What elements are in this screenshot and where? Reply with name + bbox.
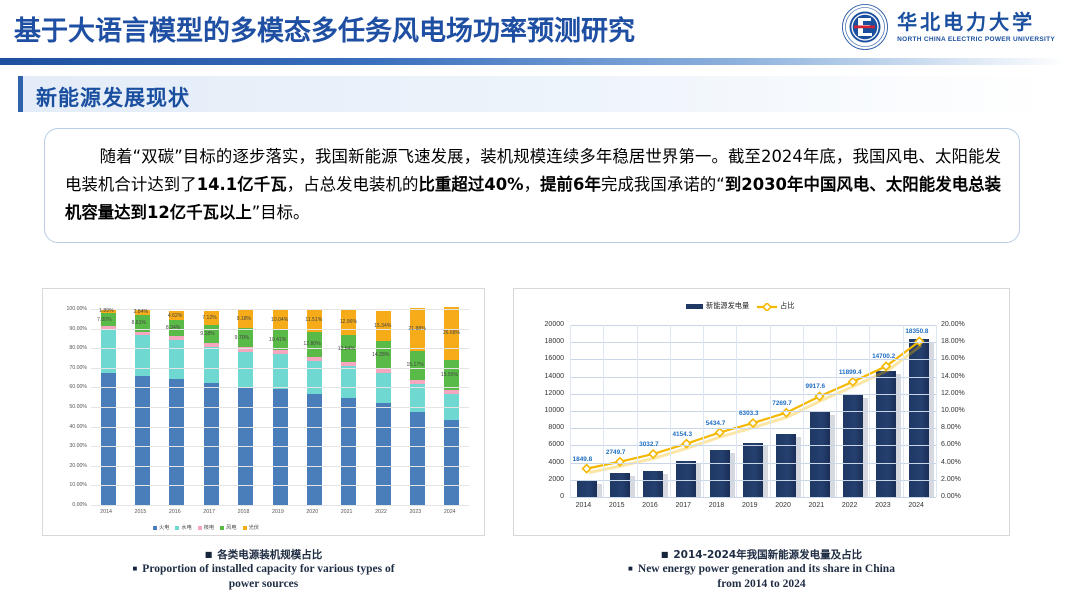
body-textbox: 随着“双碳”目标的逐步落实，我国新能源飞速发展，装机规模连续多年稳居世界第一。截… bbox=[44, 128, 1020, 243]
legend-bar-swatch-icon bbox=[686, 304, 703, 309]
right-chart-data-label: 6303.3 bbox=[739, 410, 759, 417]
right-chart-y-tick-label: 18000 bbox=[516, 338, 564, 345]
right-chart-y2-tick-label: 4.00% bbox=[941, 459, 961, 466]
left-chart-segment-火电 bbox=[307, 394, 322, 505]
right-chart-legend: 新能源发电量占比 bbox=[686, 301, 795, 311]
legend-label: 占比 bbox=[780, 301, 794, 311]
right-chart-data-label: 5434.7 bbox=[706, 420, 726, 427]
para-part-3: ， bbox=[524, 175, 541, 194]
left-chart-segment-水电 bbox=[307, 361, 322, 394]
left-chart-segment-火电 bbox=[444, 420, 459, 505]
left-chart-data-label: 13.84% bbox=[338, 346, 355, 352]
right-chart-y2-tick-label: 18.00% bbox=[941, 338, 965, 345]
left-chart-x-tick-label: 2017 bbox=[203, 509, 215, 515]
right-chart-vgridline bbox=[637, 325, 638, 497]
right-chart-data-label: 3032.7 bbox=[639, 441, 659, 448]
left-chart-data-label: 21.88% bbox=[408, 326, 425, 332]
left-chart-x-tick-label: 2020 bbox=[306, 509, 318, 515]
slide: 基于大语言模型的多模态多任务风电场功率预测研究 华北电力大学 NORTH CHI… bbox=[0, 0, 1067, 600]
right-chart-vgridline bbox=[903, 325, 904, 497]
caption-left-en-2: power sources bbox=[42, 577, 485, 592]
legend-label: 新能源发电量 bbox=[706, 301, 749, 311]
page-title: 基于大语言模型的多模态多任务风电场功率预测研究 bbox=[14, 9, 635, 48]
left-chart-gridline bbox=[91, 505, 469, 506]
left-chart-y-tick-label: 90.00% bbox=[49, 326, 87, 332]
caption-right-cn: 2014-2024年我国新能源发电量及占比 bbox=[673, 549, 862, 561]
right-chart-y2-tick-label: 14.00% bbox=[941, 373, 965, 380]
right-chart-y2-tick-label: 2.00% bbox=[941, 476, 961, 483]
left-chart-segment-水电 bbox=[135, 335, 150, 376]
right-chart-data-label: 9917.6 bbox=[806, 383, 826, 390]
right-chart-y-tick-label: 10000 bbox=[516, 407, 564, 414]
left-chart-gridline bbox=[91, 348, 469, 349]
left-chart-data-label: 15.17% bbox=[406, 362, 423, 368]
right-chart-y-tick-label: 8000 bbox=[516, 424, 564, 431]
left-chart-data-label: 8.34% bbox=[166, 325, 180, 331]
legend-label: 水电 bbox=[181, 524, 191, 531]
left-chart-data-label: 1.89% bbox=[99, 308, 113, 314]
header-divider bbox=[0, 58, 1067, 65]
left-chart-data-label: 4.62% bbox=[168, 313, 182, 319]
caption-left-en-row: ■Proportion of installed capacity for va… bbox=[42, 562, 485, 577]
right-chart-vgridline bbox=[570, 325, 571, 497]
left-chart-gridline bbox=[91, 466, 469, 467]
left-chart-data-label: 12.80% bbox=[303, 341, 320, 347]
right-chart-gridline bbox=[570, 463, 936, 464]
left-chart-data-label: 7.00% bbox=[97, 317, 111, 323]
logo-name-en: NORTH CHINA ELECTRIC POWER UNIVERSITY bbox=[897, 36, 1055, 43]
left-chart-data-label: 2.84% bbox=[134, 309, 148, 315]
para-emphasis-ahead: 提前6年 bbox=[540, 175, 601, 194]
right-chart-vgridline bbox=[803, 325, 804, 497]
right-chart-gridline bbox=[570, 428, 936, 429]
left-chart-segment-火电 bbox=[204, 383, 219, 505]
para-emphasis-share: 比重超过40% bbox=[418, 175, 523, 194]
chart-installed-capacity-share: 火电水电核电风电光伏 0.00%10.00%20.00%30.00%40.00%… bbox=[42, 288, 485, 536]
left-chart-segment-水电 bbox=[273, 354, 288, 389]
right-chart-gridline bbox=[570, 394, 936, 395]
right-chart-y-tick-label: 4000 bbox=[516, 459, 564, 466]
caption-left-cn-row: ■各类电源装机规模占比 bbox=[42, 548, 485, 562]
right-chart-data-label: 1849.8 bbox=[573, 456, 593, 463]
left-chart-x-tick-label: 2018 bbox=[238, 509, 250, 515]
left-chart-data-label: 7.12% bbox=[202, 315, 216, 321]
right-chart-data-label: 4154.3 bbox=[672, 431, 692, 438]
caption-right-chart: ■2014-2024年我国新能源发电量及占比 ■New energy power… bbox=[513, 548, 1010, 593]
left-chart-x-tick-label: 2024 bbox=[444, 509, 456, 515]
left-chart-data-label: 12.96% bbox=[340, 319, 357, 325]
right-chart-y2-tick-label: 20.00% bbox=[941, 321, 965, 328]
para-part-5: ”目标。 bbox=[252, 203, 310, 222]
right-chart-y2-tick-label: 10.00% bbox=[941, 407, 965, 414]
left-chart-segment-水电 bbox=[169, 340, 184, 379]
right-chart-y-tick-label: 2000 bbox=[516, 476, 564, 483]
right-chart-vgridline bbox=[770, 325, 771, 497]
right-chart-vgridline bbox=[736, 325, 737, 497]
left-chart-data-label: 10.41% bbox=[269, 337, 286, 343]
right-chart-y-tick-label: 0 bbox=[516, 493, 564, 500]
right-chart-vgridline bbox=[936, 325, 937, 497]
left-chart-legend-item[interactable]: 风电 bbox=[220, 524, 236, 531]
right-chart-y-tick-label: 20000 bbox=[516, 321, 564, 328]
left-chart-gridline bbox=[91, 427, 469, 428]
right-chart-x-tick-label: 2015 bbox=[609, 502, 625, 509]
left-chart-segment-水电 bbox=[204, 347, 219, 383]
right-chart-legend-item-bars[interactable]: 新能源发电量 bbox=[686, 301, 749, 311]
left-chart-gridline bbox=[91, 485, 469, 486]
right-chart-vgridline bbox=[869, 325, 870, 497]
right-chart-gridline bbox=[570, 342, 936, 343]
left-chart-x-tick-label: 2016 bbox=[169, 509, 181, 515]
bullet-square-icon: ■ bbox=[132, 564, 137, 573]
caption-right-cn-row: ■2014-2024年我国新能源发电量及占比 bbox=[513, 548, 1010, 562]
left-chart-legend-item[interactable]: 光伏 bbox=[243, 524, 259, 531]
right-chart-x-tick-label: 2019 bbox=[742, 502, 758, 509]
legend-label: 核电 bbox=[204, 524, 214, 531]
body-paragraph: 随着“双碳”目标的逐步落实，我国新能源飞速发展，装机规模连续多年稳居世界第一。截… bbox=[65, 143, 1001, 228]
right-chart-vgridline bbox=[670, 325, 671, 497]
legend-label: 光伏 bbox=[249, 524, 259, 531]
legend-line-swatch-icon bbox=[757, 303, 777, 310]
left-chart-x-tick-label: 2021 bbox=[341, 509, 353, 515]
left-chart-segment-水电 bbox=[101, 329, 116, 373]
left-chart-y-tick-label: 10.00% bbox=[49, 482, 87, 488]
legend-swatch-icon bbox=[153, 526, 157, 530]
right-chart-data-label: 18350.8 bbox=[905, 328, 928, 335]
left-chart-segment-火电 bbox=[341, 398, 356, 505]
right-chart-y2-tick-label: 12.00% bbox=[941, 390, 965, 397]
left-chart-y-tick-label: 20.00% bbox=[49, 463, 87, 469]
left-chart-gridline bbox=[91, 446, 469, 447]
right-chart-y-tick-label: 6000 bbox=[516, 441, 564, 448]
right-chart-y2-tick-label: 6.00% bbox=[941, 441, 961, 448]
left-chart-x-tick-label: 2019 bbox=[272, 509, 284, 515]
left-chart-legend-item[interactable]: 火电 bbox=[153, 524, 169, 531]
right-chart-data-label: 11899.4 bbox=[839, 369, 862, 376]
left-chart-data-label: 8.61% bbox=[132, 320, 146, 326]
right-chart-vgridline bbox=[603, 325, 604, 497]
left-chart-x-tick-label: 2014 bbox=[100, 509, 112, 515]
left-chart-data-label: 15.55% bbox=[441, 372, 458, 378]
bullet-square-icon: ■ bbox=[661, 550, 669, 559]
left-chart-y-tick-label: 80.00% bbox=[49, 345, 87, 351]
left-chart-legend-item[interactable]: 核电 bbox=[198, 524, 214, 531]
legend-swatch-icon bbox=[175, 526, 179, 530]
logo-emblem-icon bbox=[841, 3, 889, 51]
left-chart-y-tick-label: 60.00% bbox=[49, 384, 87, 390]
left-chart-segment-水电 bbox=[238, 352, 253, 387]
right-chart-gridline bbox=[570, 325, 936, 326]
left-chart-legend-item[interactable]: 水电 bbox=[175, 524, 191, 531]
right-chart-y-tick-label: 14000 bbox=[516, 373, 564, 380]
left-chart-x-tick-label: 2023 bbox=[409, 509, 421, 515]
left-chart-y-tick-label: 0.00% bbox=[49, 502, 87, 508]
chart-new-energy-generation: 新能源发电量占比 00.00%20002.00%40004.00%60006.0… bbox=[513, 288, 1010, 536]
right-chart-x-tick-label: 2014 bbox=[576, 502, 592, 509]
right-chart-x-tick-label: 2018 bbox=[709, 502, 725, 509]
left-chart-data-label: 26.68% bbox=[443, 330, 460, 336]
right-chart-gridline bbox=[570, 377, 936, 378]
right-chart-y-tick-label: 12000 bbox=[516, 390, 564, 397]
right-chart-gridline bbox=[570, 445, 936, 446]
left-chart-y-tick-label: 40.00% bbox=[49, 424, 87, 430]
para-part-2: ，占总发电装机的 bbox=[287, 175, 419, 194]
right-chart-gridline bbox=[570, 497, 936, 498]
right-chart-y-tick-label: 16000 bbox=[516, 355, 564, 362]
para-emphasis-capacity: 14.1亿千瓦 bbox=[197, 175, 287, 194]
right-chart-legend-item-line[interactable]: 占比 bbox=[757, 301, 794, 311]
bullet-square-icon: ■ bbox=[205, 550, 213, 559]
left-chart-data-label: 9.18% bbox=[237, 316, 251, 322]
left-chart-segment-水电 bbox=[341, 366, 356, 398]
left-chart-gridline bbox=[91, 407, 469, 408]
left-chart-legend: 火电水电核电风电光伏 bbox=[153, 524, 259, 531]
left-chart-x-tick-label: 2022 bbox=[375, 509, 387, 515]
left-chart-segment-火电 bbox=[376, 403, 391, 505]
caption-left-en-1: Proportion of installed capacity for var… bbox=[142, 563, 394, 575]
section-accent-bar bbox=[18, 76, 23, 112]
left-chart-stacked-column bbox=[169, 311, 184, 505]
bullet-square-icon: ■ bbox=[628, 564, 633, 573]
right-chart-vgridline bbox=[836, 325, 837, 497]
left-chart-x-tick-label: 2015 bbox=[135, 509, 147, 515]
right-chart-x-tick-label: 2022 bbox=[842, 502, 858, 509]
logo-name-cn: 华北电力大学 bbox=[897, 12, 1055, 34]
right-chart-data-label: 2749.7 bbox=[606, 449, 626, 456]
legend-label: 风电 bbox=[226, 524, 236, 531]
left-chart-data-label: 15.34% bbox=[374, 323, 391, 329]
section-title: 新能源发展现状 bbox=[36, 82, 190, 112]
left-chart-data-label: 10.04% bbox=[271, 317, 288, 323]
caption-right-en-1: New energy power generation and its shar… bbox=[638, 563, 895, 575]
left-chart-y-tick-label: 100.00% bbox=[49, 306, 87, 312]
legend-label: 火电 bbox=[159, 524, 169, 531]
left-chart-y-tick-label: 50.00% bbox=[49, 404, 87, 410]
left-chart-data-label: 14.28% bbox=[372, 352, 389, 358]
right-chart-data-label: 14700.2 bbox=[872, 353, 895, 360]
left-chart-y-tick-label: 30.00% bbox=[49, 443, 87, 449]
right-chart-vgridline bbox=[703, 325, 704, 497]
right-chart-x-tick-label: 2017 bbox=[675, 502, 691, 509]
right-chart-x-tick-label: 2021 bbox=[809, 502, 825, 509]
caption-right-en-2: from 2014 to 2024 bbox=[513, 577, 1010, 592]
right-chart-data-label: 7269.7 bbox=[772, 400, 792, 407]
legend-swatch-icon bbox=[198, 526, 202, 530]
legend-swatch-icon bbox=[220, 526, 224, 530]
right-chart-y2-tick-label: 8.00% bbox=[941, 424, 961, 431]
right-chart-gridline bbox=[570, 480, 936, 481]
right-chart-y2-tick-label: 16.00% bbox=[941, 355, 965, 362]
university-logo: 华北电力大学 NORTH CHINA ELECTRIC POWER UNIVER… bbox=[841, 3, 1055, 51]
legend-swatch-icon bbox=[243, 526, 247, 530]
right-chart-x-tick-label: 2024 bbox=[908, 502, 924, 509]
caption-right-en-row: ■New energy power generation and its sha… bbox=[513, 562, 1010, 577]
caption-left-cn: 各类电源装机规模占比 bbox=[217, 549, 322, 561]
left-chart-data-label: 11.51% bbox=[305, 317, 322, 323]
left-chart-data-label: 9.18% bbox=[200, 331, 214, 337]
slide-header: 基于大语言模型的多模态多任务风电场功率预测研究 华北电力大学 NORTH CHI… bbox=[0, 0, 1067, 58]
caption-left-chart: ■各类电源装机规模占比 ■Proportion of installed cap… bbox=[42, 548, 485, 593]
para-part-4: 完成我国承诺的“ bbox=[601, 175, 725, 194]
left-chart-y-tick-label: 70.00% bbox=[49, 365, 87, 371]
right-chart-x-tick-label: 2016 bbox=[642, 502, 658, 509]
right-chart-x-tick-label: 2020 bbox=[775, 502, 791, 509]
right-chart-x-tick-label: 2023 bbox=[875, 502, 891, 509]
right-chart-y2-tick-label: 0.00% bbox=[941, 493, 961, 500]
left-chart-data-label: 9.70% bbox=[235, 335, 249, 341]
left-chart-gridline bbox=[91, 387, 469, 388]
